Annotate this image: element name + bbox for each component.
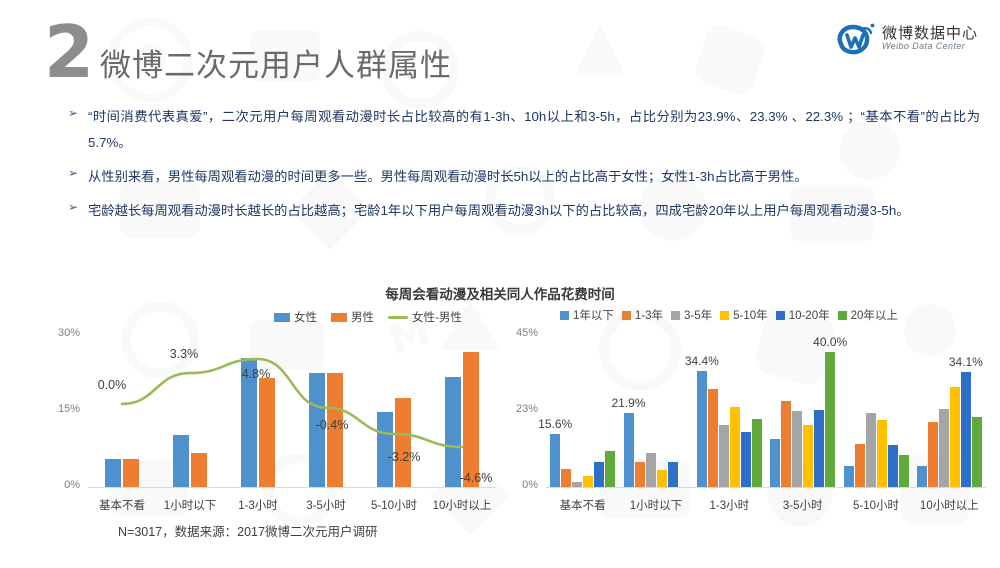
bar <box>928 422 938 487</box>
legend-item[interactable]: 女性 <box>274 309 317 325</box>
y-axis-tick-label: 23% <box>508 403 538 415</box>
bar <box>814 410 824 487</box>
data-label: 21.9% <box>603 396 655 410</box>
weibo-eye-icon <box>835 22 875 56</box>
chart-title: 每周会看动漫及相关同人作品花费时间 <box>0 283 1000 303</box>
bar <box>972 417 982 487</box>
bar <box>781 401 791 487</box>
legend-swatch <box>331 313 347 322</box>
legend-swatch <box>560 311 569 320</box>
data-label: 15.6% <box>529 417 581 431</box>
bar <box>583 476 593 487</box>
bar <box>550 434 560 487</box>
bar <box>708 389 718 487</box>
legend-item[interactable]: 10-20年 <box>776 307 830 323</box>
bullet-item: ➢ “时间消费代表真爱”，二次元用户每周观看动漫时长占比较高的有1-3h、10h… <box>68 104 980 156</box>
legend-item[interactable]: 1年以下 <box>560 307 614 323</box>
bar <box>855 444 865 487</box>
legend-label: 20年以上 <box>851 307 898 323</box>
bar <box>635 462 645 487</box>
bullet-text: 从性别来看，男性每周观看动漫的时间更多一些。男性每周观看动漫时长5h以上的占比高… <box>88 164 808 190</box>
legend-swatch <box>671 311 680 320</box>
y-axis-tick-label: 0% <box>508 479 538 491</box>
bar <box>605 451 615 487</box>
bar <box>561 469 571 487</box>
legend-label: 5-10年 <box>733 307 768 323</box>
bullet-list: ➢ “时间消费代表真爱”，二次元用户每周观看动漫时长占比较高的有1-3h、10h… <box>68 104 980 232</box>
line-data-label: -4.6% <box>446 471 506 485</box>
bar <box>939 409 949 487</box>
legend-swatch <box>720 311 729 320</box>
line-data-label: -0.4% <box>302 418 362 432</box>
bullet-marker-icon: ➢ <box>68 164 88 190</box>
bar <box>888 445 898 487</box>
bar <box>624 413 634 487</box>
data-label: 34.1% <box>940 355 992 369</box>
bar <box>877 420 887 487</box>
line-data-label: 4.8% <box>226 367 286 381</box>
bar <box>803 425 813 487</box>
page-title: 微博二次元用户人群属性 <box>100 40 452 85</box>
bar <box>741 432 751 487</box>
legend-item[interactable]: 1-3年 <box>622 307 663 323</box>
brand-logo: 微博数据中心 Weibo Data Center <box>835 22 978 56</box>
legend-label: 1-3年 <box>635 307 663 323</box>
bar <box>825 352 835 487</box>
line-data-label: -3.2% <box>374 450 434 464</box>
legend-swatch <box>838 311 847 320</box>
bar <box>899 455 909 487</box>
bar <box>917 466 927 487</box>
legend-label: 1年以下 <box>573 307 614 323</box>
bar <box>668 462 678 487</box>
legend-swatch <box>622 311 631 320</box>
bullet-item: ➢ 宅龄越长每周观看动漫时长越长的占比越高；宅龄1年以下用户每周观看动漫3h以下… <box>68 198 980 224</box>
legend-line-swatch <box>388 316 408 319</box>
bar <box>657 470 667 487</box>
bar <box>572 482 582 487</box>
legend-label: 男性 <box>351 309 374 325</box>
line-data-label: 0.0% <box>82 378 142 392</box>
bullet-text: 宅龄越长每周观看动漫时长越长的占比越高；宅龄1年以下用户每周观看动漫3h以下的占… <box>88 198 910 224</box>
slide-header: 2 微博二次元用户人群属性 微博数据中心 Weibo Data Center <box>0 0 1000 100</box>
bar <box>950 387 960 487</box>
bar <box>844 466 854 487</box>
logo-title-cn: 微博数据中心 <box>882 26 978 42</box>
bar <box>961 372 971 487</box>
legend-item[interactable]: 5-10年 <box>720 307 768 323</box>
legend-item[interactable]: 20年以上 <box>838 307 898 323</box>
legend-label: 女性-男性 <box>412 309 462 325</box>
bar <box>646 453 656 487</box>
logo-title-en: Weibo Data Center <box>882 42 978 51</box>
bar <box>719 425 729 487</box>
bullet-item: ➢ 从性别来看，男性每周观看动漫的时间更多一些。男性每周观看动漫时长5h以上的占… <box>68 164 980 190</box>
line-data-label: 3.3% <box>154 347 214 361</box>
data-label: 34.4% <box>676 354 728 368</box>
bar <box>770 439 780 487</box>
y-axis-tick-label: 45% <box>508 327 538 339</box>
source-footnote: N=3017，数据来源：2017微博二次元用户调研 <box>118 521 377 540</box>
bullet-text: “时间消费代表真爱”，二次元用户每周观看动漫时长占比较高的有1-3h、10h以上… <box>88 104 980 156</box>
bar <box>752 419 762 487</box>
legend-swatch <box>274 313 290 322</box>
legend-label: 3-5年 <box>684 307 712 323</box>
data-label: 40.0% <box>804 335 856 349</box>
legend-swatch <box>776 311 785 320</box>
bar <box>697 371 707 487</box>
x-axis-category-label: 10小时以上 <box>901 497 998 513</box>
bar <box>594 462 604 487</box>
chart-legend: 女性男性女性-男性 <box>274 309 462 325</box>
legend-label: 女性 <box>294 309 317 325</box>
axis-baseline <box>546 487 986 488</box>
bar <box>730 407 740 487</box>
legend-label: 10-20年 <box>789 307 830 323</box>
gender-bar-chart: 0%15%30%女性男性女性-男性基本不看1小时以下1-3小时3-5小时5-10… <box>52 305 502 517</box>
section-number: 2 <box>44 16 92 88</box>
otaku-age-bar-chart: 0%23%45%1年以下1-3年3-5年5-10年10-20年20年以上基本不看… <box>508 305 994 517</box>
legend-item[interactable]: 3-5年 <box>671 307 712 323</box>
bullet-marker-icon: ➢ <box>68 104 88 156</box>
bullet-marker-icon: ➢ <box>68 198 88 224</box>
chart-legend: 1年以下1-3年3-5年5-10年10-20年20年以上 <box>560 307 898 323</box>
bar <box>866 413 876 487</box>
difference-line-series <box>52 305 502 517</box>
legend-item[interactable]: 女性-男性 <box>388 309 462 325</box>
legend-item[interactable]: 男性 <box>331 309 374 325</box>
bar <box>792 411 802 487</box>
